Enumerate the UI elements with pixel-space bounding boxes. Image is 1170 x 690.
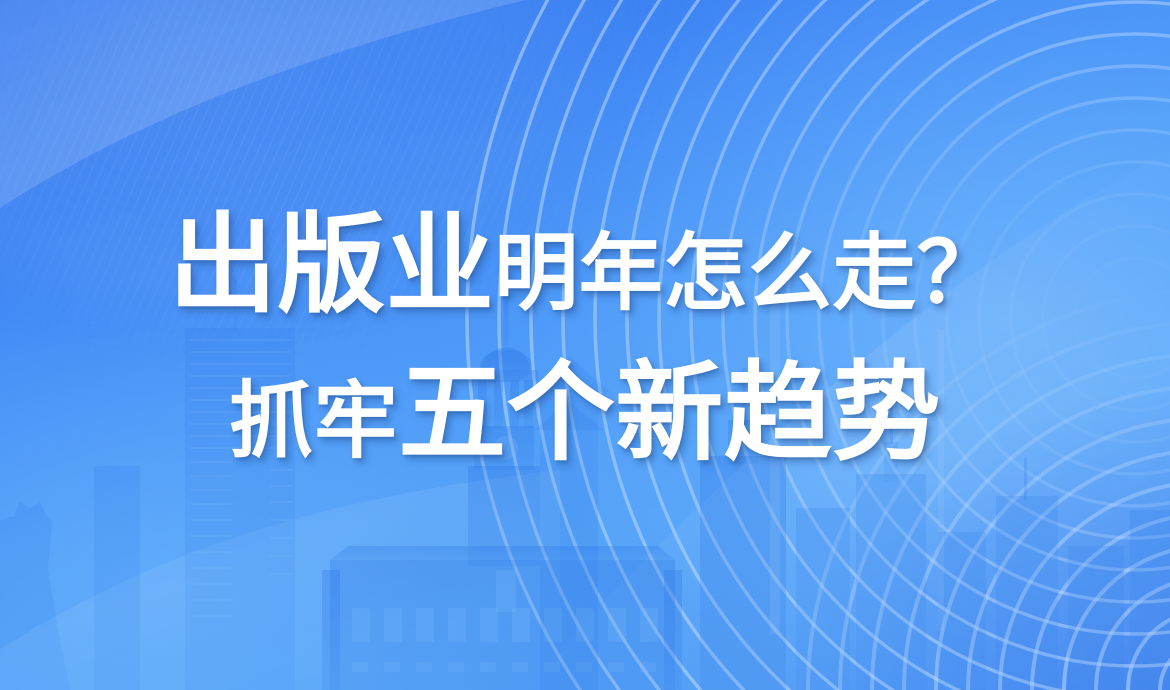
promo-banner: 出版业明年怎么走？ 抓牢五个新趋势 (0, 0, 1170, 690)
city-skyline-silhouette (0, 270, 1170, 690)
